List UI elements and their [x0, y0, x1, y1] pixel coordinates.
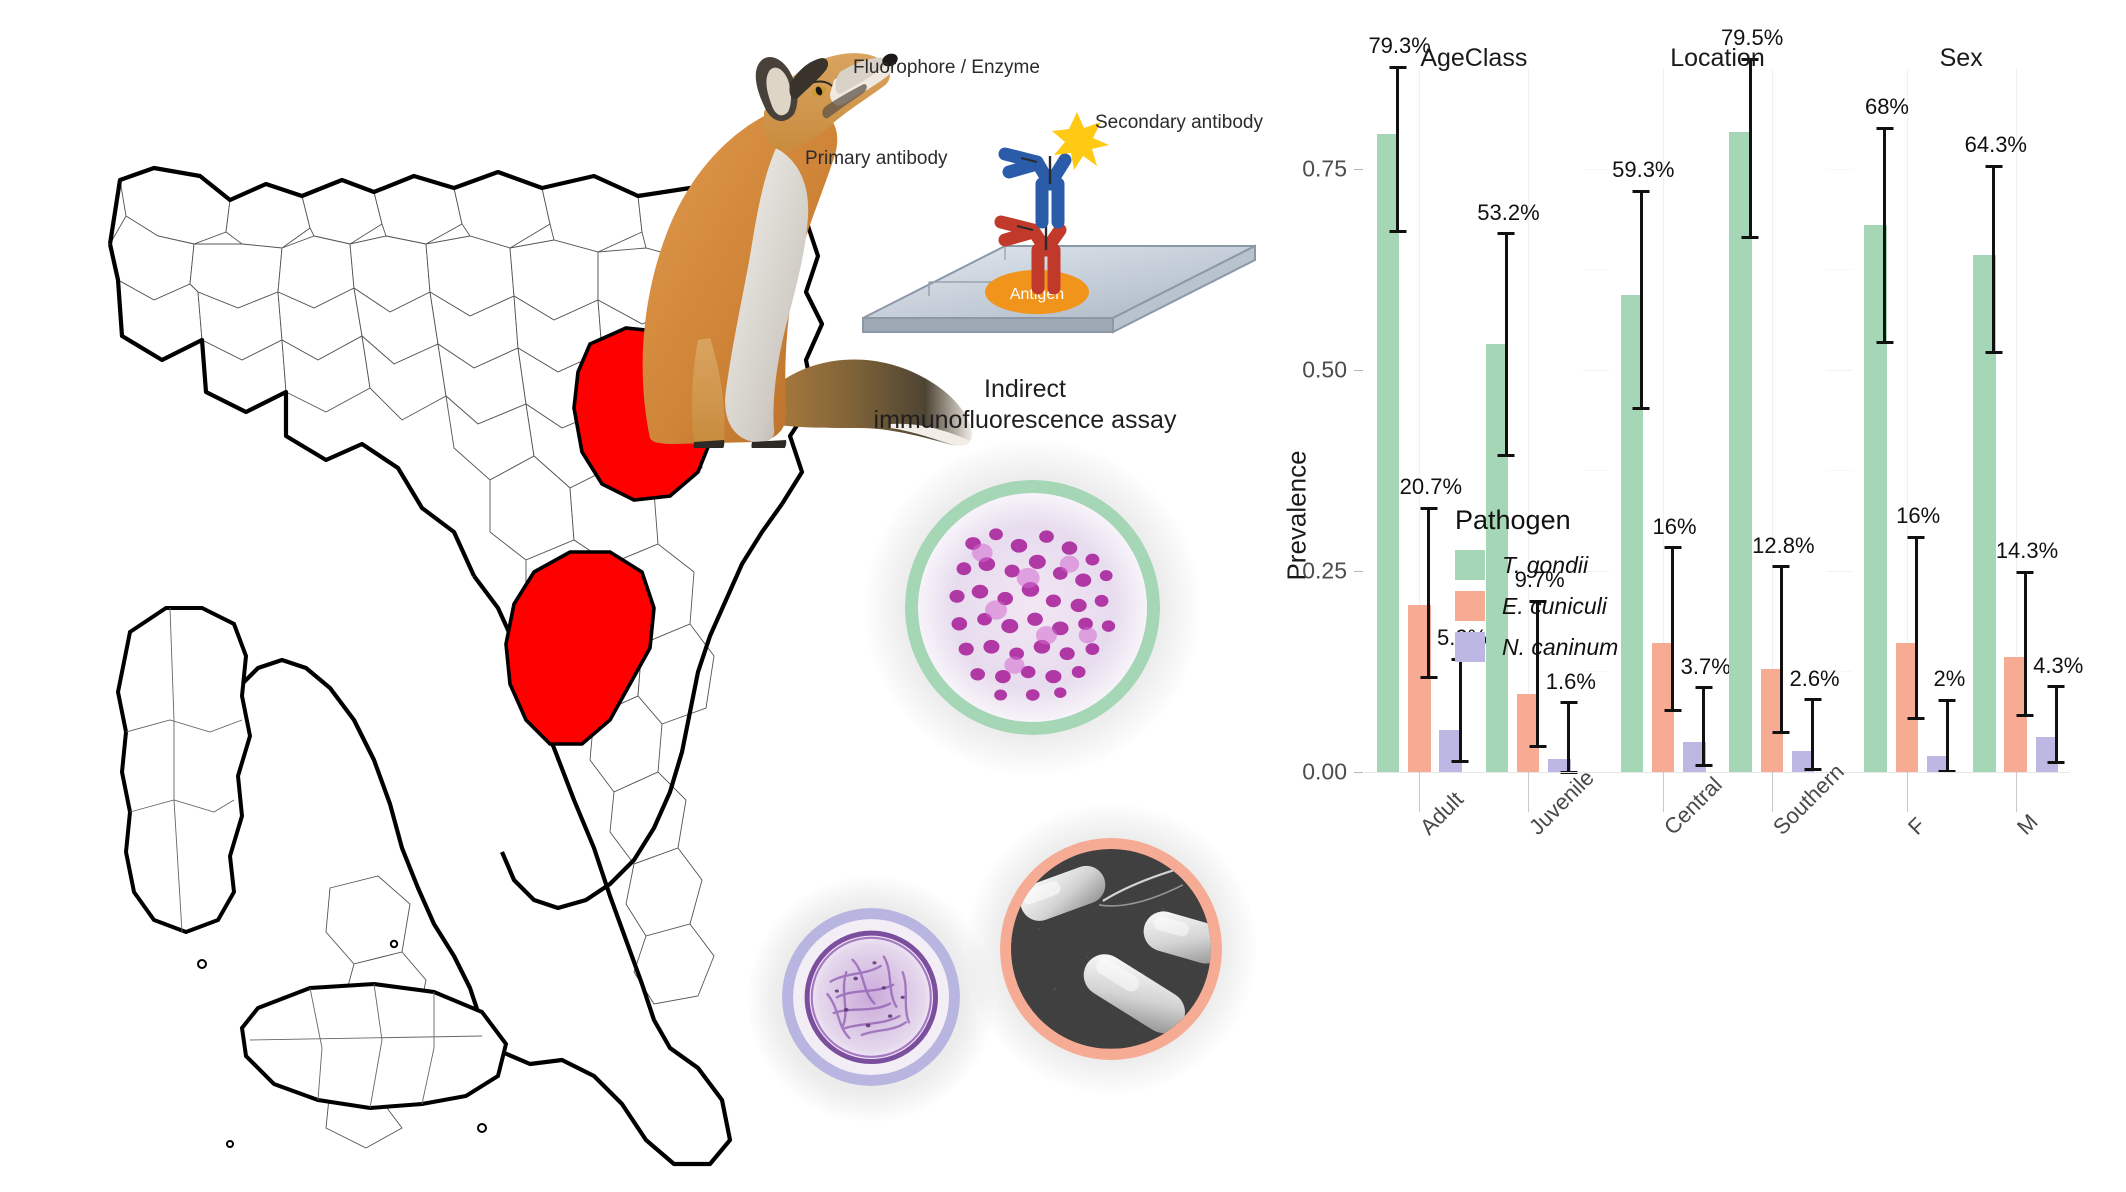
legend-swatch-icon — [1455, 550, 1485, 580]
error-bar-cap — [1633, 407, 1650, 410]
x-tick-label: Juvenile — [1524, 822, 1542, 840]
bar-value-label: 53.2% — [1477, 200, 1539, 226]
error-bar-cap — [1420, 676, 1437, 679]
tgondii-micrograph — [905, 480, 1160, 735]
error-bar — [1505, 234, 1508, 456]
legend-item-label: N. caninum — [1502, 634, 1618, 661]
y-tick-label: 0.25 — [1277, 557, 1347, 584]
legend-swatch-icon — [1455, 591, 1485, 621]
bar-value-label: 12.8% — [1752, 533, 1814, 559]
figure-root: Antigen — [0, 0, 2126, 1192]
x-tick-label: F — [1903, 822, 1921, 840]
error-bar-cap — [1664, 709, 1681, 712]
legend-item-0[interactable]: T. gondii — [1455, 550, 1685, 580]
error-bar — [1567, 703, 1570, 772]
error-bar-cap — [2017, 571, 2034, 574]
y-tick-mark — [1354, 571, 1363, 572]
bar-value-label: 4.3% — [2033, 653, 2083, 679]
facet-strip-label: AgeClass — [1365, 44, 1583, 73]
error-bar — [1749, 59, 1752, 238]
error-bar-cap — [1498, 232, 1515, 235]
ifa-diagram: Antigen — [855, 50, 1265, 370]
legend-swatch-icon — [1455, 632, 1485, 662]
error-bar-cap — [1498, 454, 1515, 457]
bar-value-label: 3.7% — [1681, 654, 1731, 680]
error-bar-cap — [1908, 536, 1925, 539]
error-bar-cap — [2017, 714, 2034, 717]
y-tick-label: 0.00 — [1277, 759, 1347, 786]
error-bar-cap — [1773, 731, 1790, 734]
y-tick-mark — [1354, 370, 1363, 371]
bar-value-label: 68% — [1865, 94, 1909, 120]
error-bar-cap — [1773, 565, 1790, 568]
bar-value-label: 14.3% — [1996, 538, 2058, 564]
legend-item-2[interactable]: N. caninum — [1455, 632, 1685, 662]
error-bar — [1883, 128, 1886, 342]
ecuniculi-micrograph — [1000, 838, 1222, 1060]
y-axis-title: Prevalence — [1282, 396, 1313, 636]
bar-value-label: 16% — [1896, 503, 1940, 529]
x-tick-mark — [1419, 772, 1420, 812]
bar-value-label: 64.3% — [1965, 132, 2027, 158]
legend-item-label: T. gondii — [1502, 552, 1588, 579]
error-bar-cap — [1876, 341, 1893, 344]
error-bar — [1915, 537, 1918, 718]
pathogen-legend: Pathogen T. gondiiE. cuniculiN. caninum — [1455, 505, 1685, 673]
legend-item-1[interactable]: E. cuniculi — [1455, 591, 1685, 621]
y-tick-mark — [1354, 169, 1363, 170]
error-bar-cap — [1985, 165, 2002, 168]
error-bar-cap — [1985, 351, 2002, 354]
error-bar — [1459, 659, 1462, 761]
y-tick-mark — [1354, 772, 1363, 773]
error-bar-cap — [1939, 699, 1956, 702]
x-tick-mark — [2016, 772, 2017, 812]
error-bar-cap — [1633, 190, 1650, 193]
ifa-caption: Indirect immunofluorescence assay — [855, 374, 1195, 437]
error-bar — [1640, 191, 1643, 408]
x-tick-mark — [1907, 772, 1908, 812]
x-gridline — [1772, 68, 1773, 772]
error-bar — [1396, 67, 1399, 231]
error-bar-cap — [1389, 230, 1406, 233]
x-tick-mark — [1663, 772, 1664, 812]
error-bar-cap — [1420, 507, 1437, 510]
bar-value-label: 2% — [1933, 666, 1965, 692]
fluorophore-label: Fluorophore / Enzyme — [853, 57, 1040, 79]
x-tick-label: M — [2012, 822, 2030, 840]
error-bar — [1811, 700, 1814, 770]
x-tick-mark — [1528, 772, 1529, 812]
primary-antibody-label: Primary antibody — [805, 148, 948, 170]
error-bar — [1780, 567, 1783, 733]
error-bar — [2055, 687, 2058, 763]
legend-items: T. gondiiE. cuniculiN. caninum — [1455, 550, 1685, 662]
error-bar — [1702, 688, 1705, 766]
ifa-caption-line2: immunofluorescence assay — [855, 405, 1195, 436]
y-tick-label: 0.75 — [1277, 155, 1347, 182]
error-bar-cap — [1529, 745, 1546, 748]
error-bar-cap — [2048, 685, 2065, 688]
legend-title: Pathogen — [1455, 505, 1685, 536]
error-bar-cap — [1452, 760, 1469, 763]
facet-strip-label: Location — [1609, 44, 1827, 73]
error-bar — [1992, 166, 1995, 353]
bar-value-label: 59.3% — [1612, 157, 1674, 183]
facet-strip-label: Sex — [1852, 44, 2070, 73]
error-bar-cap — [1560, 701, 1577, 704]
error-bar — [2024, 572, 2027, 715]
prevalence-bar-chart: Prevalence 0.000.250.500.75 79.3%20.7%5.… — [1245, 0, 2126, 1192]
error-bar — [1946, 700, 1949, 771]
ifa-caption-line1: Indirect — [855, 374, 1195, 405]
error-bar — [1427, 508, 1430, 677]
x-tick-label: Adult — [1415, 822, 1433, 840]
x-tick-mark — [1772, 772, 1773, 812]
y-tick-label: 0.50 — [1277, 356, 1347, 383]
x-axis-baseline — [1365, 772, 2070, 773]
ncaninum-micrograph — [782, 908, 960, 1086]
error-bar-cap — [1876, 127, 1893, 130]
bar-value-label: 2.6% — [1789, 666, 1839, 692]
error-bar-cap — [1695, 686, 1712, 689]
error-bar-cap — [2048, 761, 2065, 764]
x-tick-label: Southern — [1768, 822, 1786, 840]
error-bar-cap — [1742, 236, 1759, 239]
legend-item-label: E. cuniculi — [1502, 593, 1607, 620]
x-tick-label: Central — [1659, 822, 1677, 840]
error-bar-cap — [1804, 698, 1821, 701]
error-bar-cap — [1908, 717, 1925, 720]
secondary-antibody-label: Secondary antibody — [1095, 112, 1263, 134]
bar-value-label: 20.7% — [1400, 474, 1462, 500]
error-bar-cap — [1695, 764, 1712, 767]
